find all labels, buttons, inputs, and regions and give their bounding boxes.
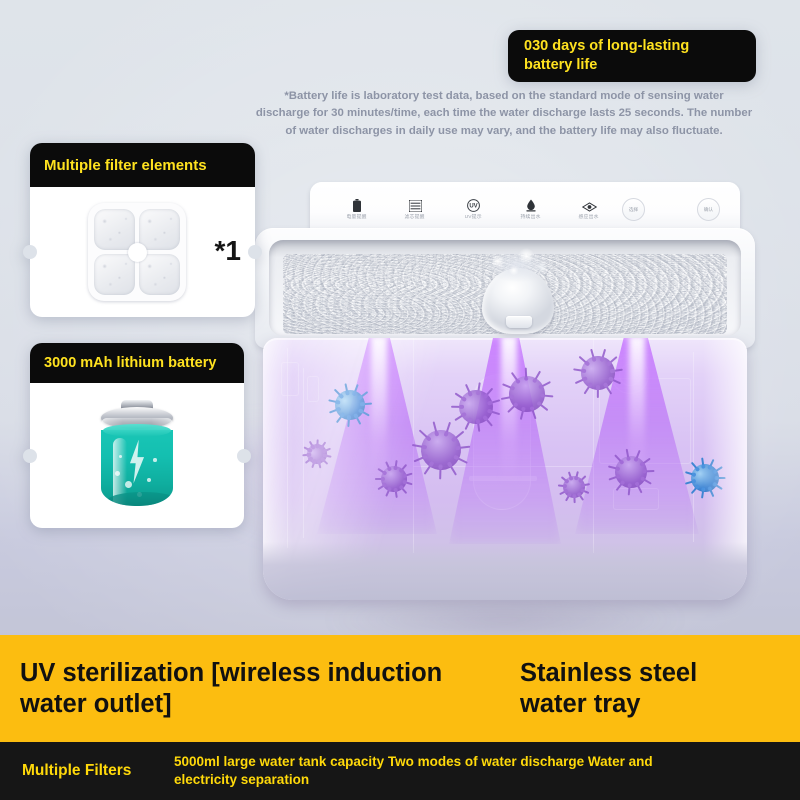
feature-uv-sterilization: UV sterilization [wireless induction wat… bbox=[20, 658, 520, 718]
uv-icon: UV bbox=[467, 199, 480, 212]
feature-1-line2: water outlet] bbox=[20, 689, 520, 719]
filter-card-title: Multiple filter elements bbox=[30, 143, 255, 187]
pet-water-fountain-product: 电量提醒 滤芯提醒 UV UV提示 持续出水 bbox=[255, 182, 755, 607]
indicator-sensing-water-label: 感应出水 bbox=[579, 214, 599, 220]
feature-2-line1: Stainless steel bbox=[520, 658, 697, 688]
indicator-battery-label: 电量提醒 bbox=[347, 214, 367, 220]
lithium-battery-card: 3000 mAh lithium battery bbox=[30, 343, 244, 528]
card-notch-left bbox=[23, 245, 37, 259]
battery-card-body bbox=[30, 383, 244, 528]
specs-multiple-filters-label: Multiple Filters bbox=[22, 762, 174, 780]
disclaimer-line2: discharge for 30 minutes/time, each time… bbox=[215, 105, 793, 122]
indicator-uv-label: UV提示 bbox=[464, 214, 481, 220]
disclaimer-line1: *Battery life is laboratory test data, b… bbox=[215, 88, 793, 105]
feature-1-line1: UV sterilization [wireless induction bbox=[20, 658, 520, 688]
indicator-filter: 滤芯提醒 bbox=[386, 199, 444, 220]
filter-elements-card: Multiple filter elements *1 bbox=[30, 143, 255, 317]
select-button[interactable]: 选择 bbox=[622, 198, 645, 221]
battery-bottom-ellipse bbox=[107, 492, 173, 506]
confirm-button[interactable]: 确认 bbox=[697, 198, 720, 221]
specs-line1: 5000ml large water tank capacity Two mod… bbox=[174, 753, 764, 771]
card-notch-left bbox=[23, 449, 37, 463]
water-tray bbox=[255, 228, 755, 348]
indicator-sensing-water: 感应出水 bbox=[560, 199, 618, 220]
battery-housing bbox=[101, 418, 173, 506]
indicator-continuous-water-label: 持续出水 bbox=[521, 214, 541, 220]
battery-fluid-surface bbox=[103, 424, 171, 437]
filter-pad bbox=[139, 254, 180, 295]
filter-card-body: *1 bbox=[30, 187, 255, 317]
svg-text:UV: UV bbox=[469, 204, 477, 210]
filter-pad bbox=[94, 209, 135, 250]
battery-life-disclaimer: *Battery life is laboratory test data, b… bbox=[215, 88, 793, 140]
battery-icon bbox=[353, 199, 361, 212]
water-drop-icon bbox=[525, 199, 537, 212]
specs-strip: Multiple Filters 5000ml large water tank… bbox=[0, 742, 800, 800]
battery-card-title: 3000 mAh lithium battery bbox=[30, 343, 244, 383]
filter-center-hole bbox=[128, 243, 147, 262]
filter-cartridge-icon bbox=[88, 203, 186, 301]
fountain-splash bbox=[476, 242, 560, 288]
filter-quantity-label: *1 bbox=[215, 235, 241, 267]
filter-cartridge-icon bbox=[409, 199, 422, 212]
disclaimer-line3: of water discharges in daily use may var… bbox=[215, 123, 793, 140]
water-fountain-spout bbox=[470, 242, 566, 336]
card-notch-right bbox=[248, 245, 262, 259]
specs-description: 5000ml large water tank capacity Two mod… bbox=[174, 753, 764, 788]
tank-base-shadow bbox=[263, 542, 747, 600]
indicator-continuous-water: 持续出水 bbox=[502, 199, 560, 220]
filter-pad bbox=[94, 254, 135, 295]
specs-line2: electricity separation bbox=[174, 771, 764, 789]
indicator-uv: UV UV提示 bbox=[444, 199, 502, 220]
indicator-battery: 电量提醒 bbox=[328, 199, 386, 220]
feature-stainless-tray: Stainless steel water tray bbox=[520, 658, 697, 718]
sensor-eye-icon bbox=[582, 199, 597, 212]
feature-banner: UV sterilization [wireless induction wat… bbox=[0, 635, 800, 742]
uv-sterilization-tank bbox=[263, 338, 747, 600]
battery-life-badge: 030 days of long-lasting battery life bbox=[508, 30, 756, 82]
fountain-outlet bbox=[506, 316, 532, 328]
battery-life-line2: battery life bbox=[524, 56, 689, 75]
card-notch-right bbox=[237, 449, 251, 463]
battery-life-line1: 030 days of long-lasting bbox=[524, 37, 689, 56]
filter-pad bbox=[139, 209, 180, 250]
indicator-filter-label: 滤芯提醒 bbox=[405, 214, 425, 220]
lithium-battery-icon bbox=[95, 400, 179, 512]
feature-2-line2: water tray bbox=[520, 689, 697, 719]
